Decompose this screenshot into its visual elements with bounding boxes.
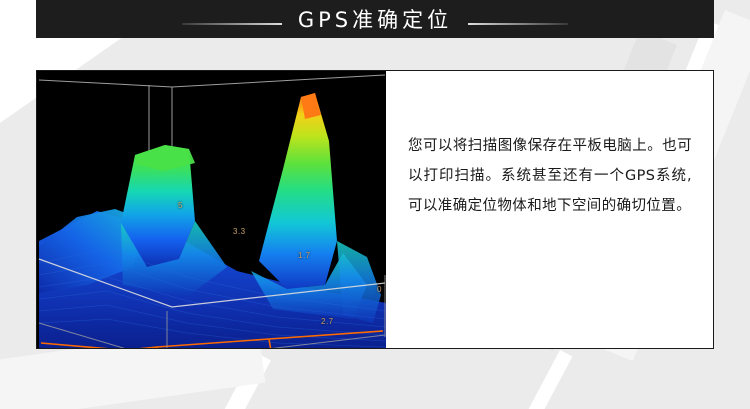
plot-axis-label-4: 2.7 <box>321 317 334 326</box>
bg-stripe-bottom-1 <box>189 352 271 409</box>
section-header: GPS准确定位 <box>36 0 714 38</box>
plot-axis-label-0: 5 <box>178 201 183 210</box>
header-rule-right <box>468 23 568 25</box>
header-rule-left <box>182 23 282 25</box>
product-detail-page: GPS准确定位 <box>0 0 750 409</box>
content-card: 5 3.3 1.7 0 2.7 您可以将扫描图像保存在平板电脑上。也可以打印扫描… <box>36 70 714 349</box>
gpr-3d-surface-plot: 5 3.3 1.7 0 2.7 <box>37 71 386 349</box>
plot-axis-label-3: 0 <box>377 285 382 294</box>
page-title: GPS准确定位 <box>298 4 452 34</box>
plot-axis-label-1: 3.3 <box>233 227 246 236</box>
brand-watermark: MT混探科技 <box>514 343 634 349</box>
plot-axis-label-2: 1.7 <box>298 251 311 260</box>
surface-plot-canvas <box>37 71 386 349</box>
bg-stripe-bottom-2 <box>490 350 573 409</box>
description-text: 您可以将扫描图像保存在平板电脑上。也可以打印扫描。系统甚至还有一个GPS系统,可… <box>408 131 692 221</box>
